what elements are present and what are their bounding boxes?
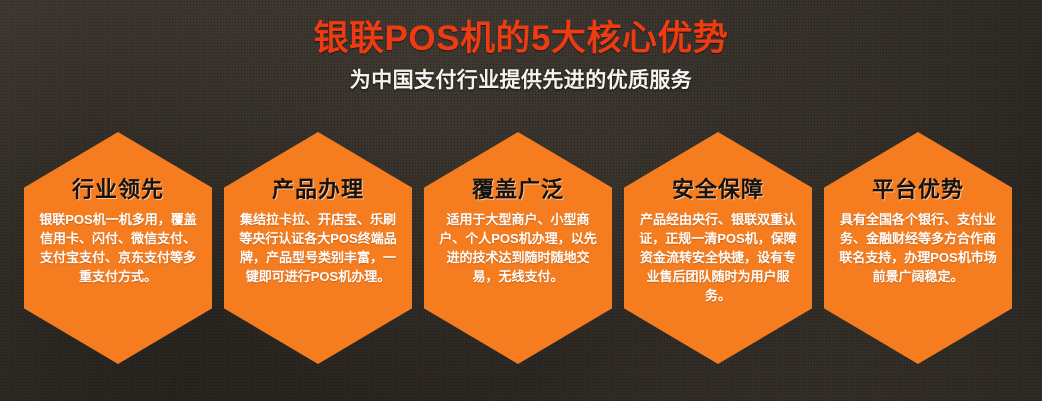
advantage-hexagon-row: 行业领先 银联POS机一机多用，覆盖信用卡、闪付、微信支付、支付宝支付、京东支付…	[24, 132, 1020, 364]
advantage-card-title: 产品办理	[232, 132, 404, 204]
advantage-card-2[interactable]: 产品办理 集结拉卡拉、开店宝、乐刷等央行认证各大POS终端品牌，产品型号类别丰富…	[224, 132, 412, 364]
advantage-card-title: 平台优势	[832, 132, 1004, 204]
advantage-card-body: 产品经由央行、银联双重认证，正规一清POS机，保障资金流转安全快捷，设有专业售后…	[632, 204, 804, 305]
advantage-card-title: 覆盖广泛	[432, 132, 604, 204]
advantage-card-4[interactable]: 安全保障 产品经由央行、银联双重认证，正规一清POS机，保障资金流转安全快捷，设…	[624, 132, 812, 364]
advantage-card-1[interactable]: 行业领先 银联POS机一机多用，覆盖信用卡、闪付、微信支付、支付宝支付、京东支付…	[24, 132, 212, 364]
advantage-card-title: 安全保障	[632, 132, 804, 204]
page-subtitle: 为中国支付行业提供先进的优质服务	[0, 60, 1042, 94]
advantage-card-body: 适用于大型商户、小型商户、个人POS机办理，以先进的技术达到随时随地交易，无线支…	[432, 204, 604, 286]
advantage-card-title: 行业领先	[32, 132, 204, 204]
advantage-card-5[interactable]: 平台优势 具有全国各个银行、支付业务、金融财经等多方合作商联名支持，办理POS机…	[824, 132, 1012, 364]
advantage-card-3[interactable]: 覆盖广泛 适用于大型商户、小型商户、个人POS机办理，以先进的技术达到随时随地交…	[424, 132, 612, 364]
promo-banner: 银联POS机的5大核心优势 为中国支付行业提供先进的优质服务 行业领先 银联PO…	[0, 0, 1042, 401]
advantage-card-body: 集结拉卡拉、开店宝、乐刷等央行认证各大POS终端品牌，产品型号类别丰富，一键即可…	[232, 204, 404, 286]
banner-heading: 银联POS机的5大核心优势 为中国支付行业提供先进的优质服务	[0, 0, 1042, 94]
advantage-card-body: 银联POS机一机多用，覆盖信用卡、闪付、微信支付、支付宝支付、京东支付等多重支付…	[32, 204, 204, 286]
advantage-card-body: 具有全国各个银行、支付业务、金融财经等多方合作商联名支持，办理POS机市场前景广…	[832, 204, 1004, 286]
page-title: 银联POS机的5大核心优势	[0, 0, 1042, 60]
